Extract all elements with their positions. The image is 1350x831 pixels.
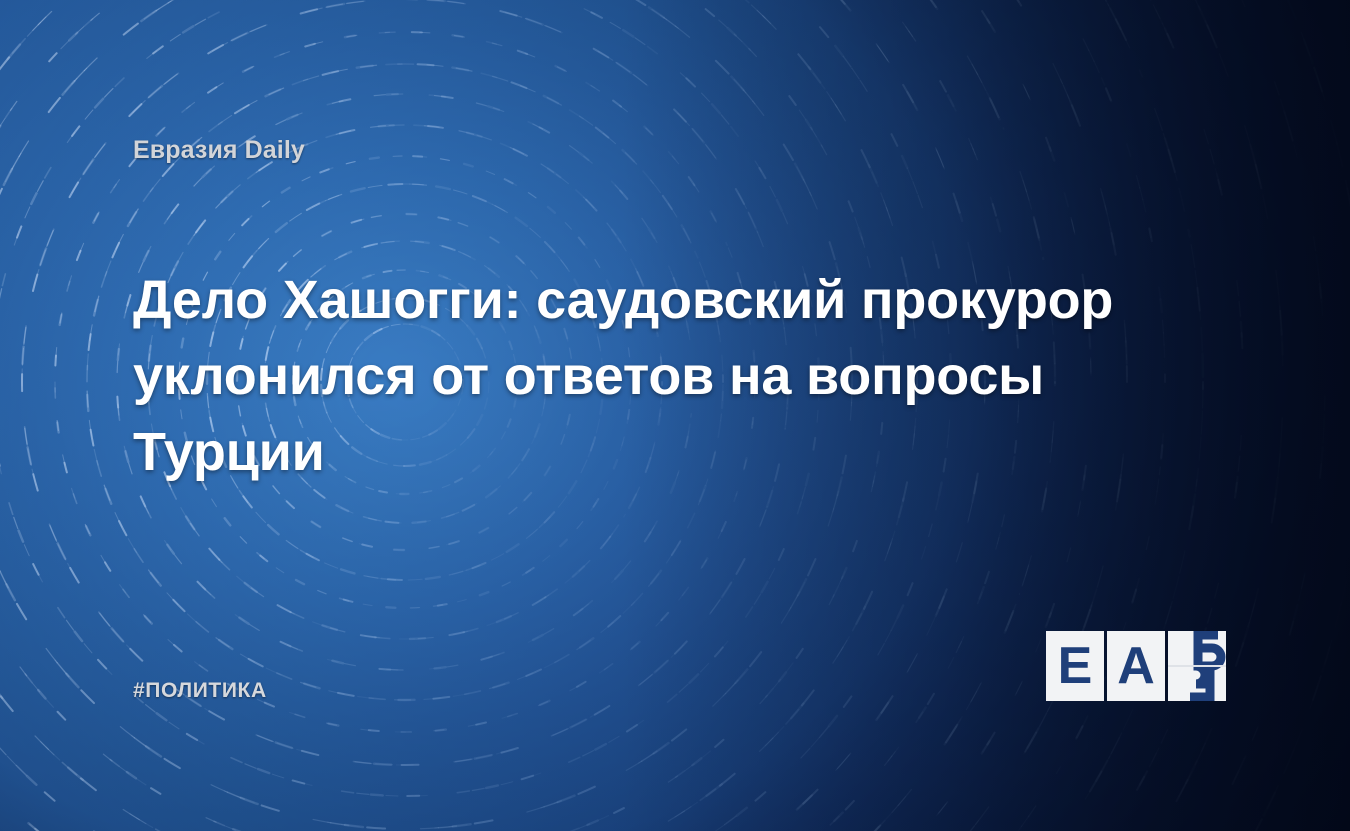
brand-label: Евразия Daily: [133, 136, 305, 165]
headline-line-1: Дело Хашогги: саудовский прокурор: [133, 262, 1133, 338]
logo-tile-d-mark: [1168, 631, 1242, 701]
logo-tile-e: E: [1046, 631, 1104, 701]
logo-tile-a: A: [1107, 631, 1165, 701]
page-title: Дело Хашогги: саудовский прокурор уклони…: [133, 262, 1133, 490]
headline-line-2: уклонился от ответов на вопросы: [133, 338, 1133, 414]
news-card: Евразия Daily Дело Хашогги: саудовский п…: [0, 0, 1350, 831]
headline-line-3: Турции: [133, 414, 1133, 490]
hashtag-politics[interactable]: #ПОЛИТИКА: [133, 679, 267, 703]
eadaily-logo[interactable]: E A: [1046, 631, 1242, 701]
